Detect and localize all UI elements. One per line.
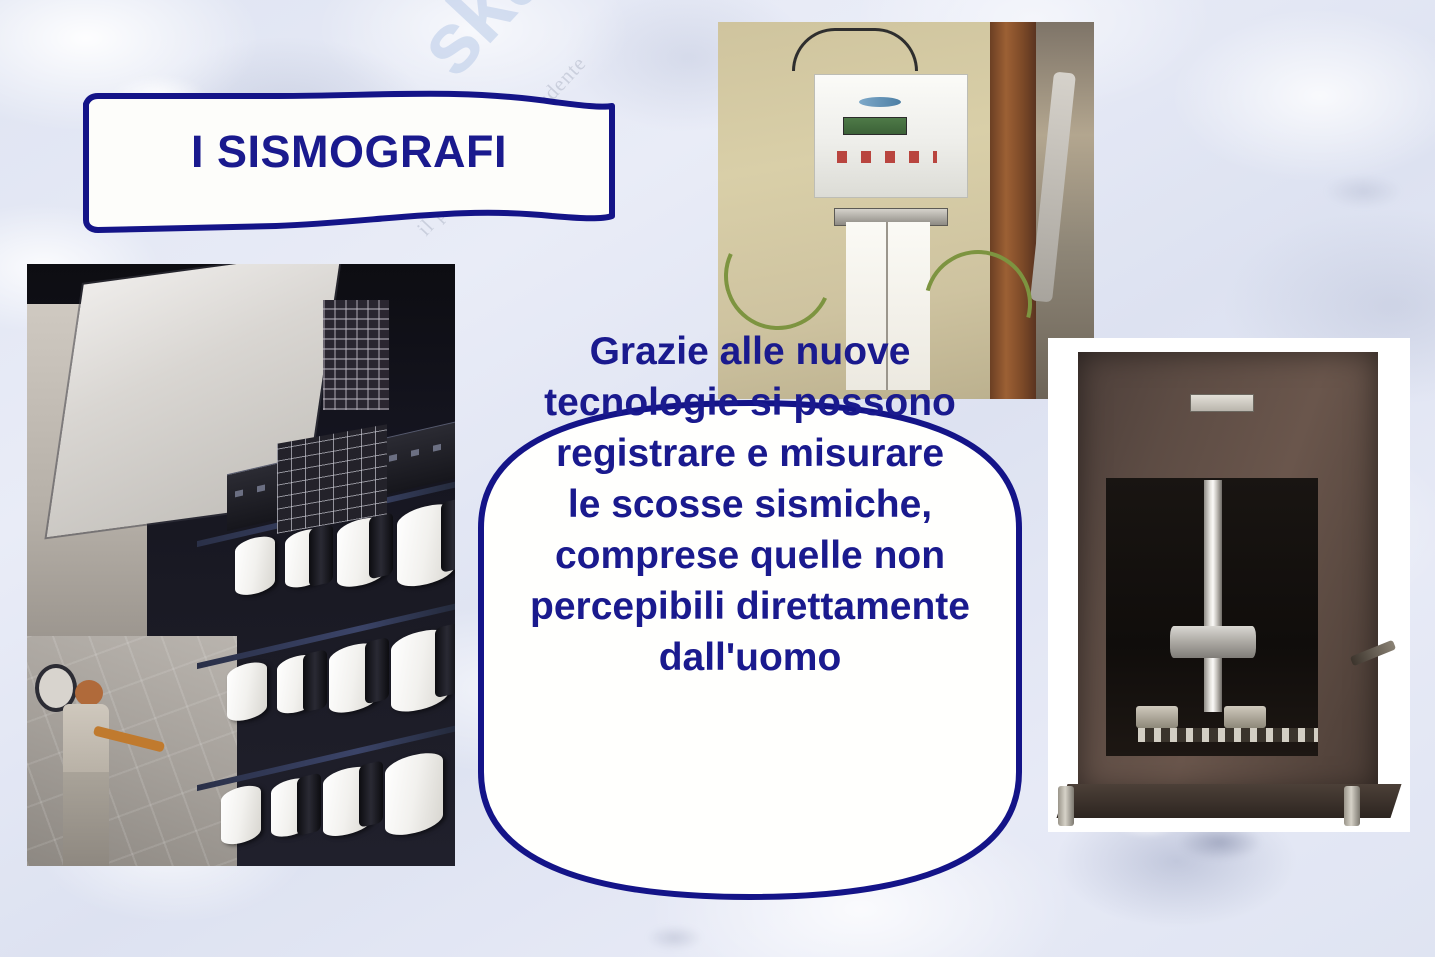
drum-hub: [441, 497, 455, 573]
recorder-buttons: [837, 151, 937, 163]
seismometer-terminal-strip: [1138, 728, 1318, 742]
page-title: I SISMOGRAFI: [78, 126, 620, 178]
photo-left-operator: [55, 680, 117, 866]
seismometer-levelling-bolt-right: [1344, 786, 1360, 826]
seismometer-nameplate: [1190, 394, 1254, 412]
recorder-lcd-display: [843, 117, 907, 135]
seismometer-side-arm: [1350, 640, 1396, 667]
drum-recorder: [227, 659, 267, 724]
callout-body-text: Grazie alle nuove tecnologie si possono …: [470, 326, 1030, 683]
slide-canvas: skuola.net il paradiso dello studente: [0, 0, 1435, 957]
operator-head: [75, 680, 103, 706]
image-seismograph-drum-recorder-rack: [27, 264, 455, 866]
photo-top-recorder-unit: [814, 74, 968, 198]
photo-left-grid-panel-upper: [323, 300, 389, 410]
drum-hub: [303, 649, 327, 713]
drum-hub: [369, 512, 393, 580]
operator-torso: [63, 704, 109, 774]
seismometer-pendulum-rod: [1204, 480, 1222, 712]
drum-hub: [365, 637, 389, 705]
operator-legs: [63, 772, 109, 866]
seismometer-support-right: [1224, 706, 1266, 728]
title-banner: I SISMOGRAFI: [78, 90, 620, 236]
seismometer-support-left: [1136, 706, 1178, 728]
seismometer-inertial-mass: [1170, 626, 1256, 658]
drum-recorder: [221, 782, 261, 847]
image-pendulum-seismometer-case: [1048, 338, 1410, 832]
seismometer-levelling-bolt-left: [1058, 786, 1074, 826]
drum-recorder: [385, 748, 443, 839]
seismometer-wooden-case: [1078, 352, 1378, 792]
drum-hub: [297, 773, 321, 837]
drum-recorder: [235, 533, 275, 598]
photo-top-cable-hanger: [792, 28, 918, 71]
recorder-logo: [859, 97, 901, 107]
drum-hub: [435, 623, 455, 699]
drum-hub: [309, 524, 333, 588]
drum-hub: [359, 760, 383, 828]
